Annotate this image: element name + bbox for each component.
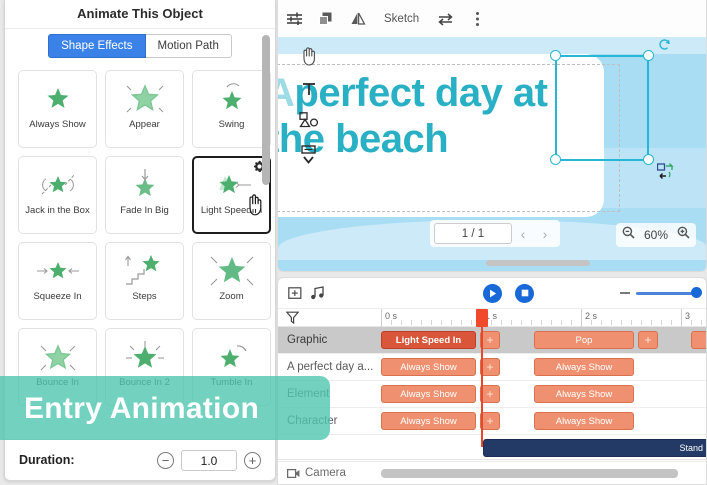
ruler-minor-tick bbox=[461, 320, 462, 325]
tab-motion-path[interactable]: Motion Path bbox=[146, 34, 232, 58]
timeline-clip[interactable]: Always Show bbox=[381, 358, 476, 376]
effect-label: Always Show bbox=[20, 119, 96, 130]
zoom-level: 60% bbox=[644, 228, 668, 242]
camera-label-text: Camera bbox=[305, 467, 346, 479]
effect-label: Bounce In 2 bbox=[107, 377, 183, 388]
dropdown-icon[interactable] bbox=[296, 145, 322, 165]
camera-icon bbox=[287, 468, 300, 479]
effects-scroll-area: Always ShowAppearSwingJack in the BoxFad… bbox=[5, 62, 275, 439]
track-lane[interactable]: Always Show+Always Show bbox=[381, 381, 706, 408]
timeline-panel: GraphicA perfect day a...ElementCharacte… bbox=[277, 277, 707, 485]
canvas-left-tools bbox=[296, 46, 322, 181]
duration-input[interactable]: 1.0 bbox=[181, 450, 237, 471]
effect-label: Fade In Big bbox=[107, 205, 183, 216]
effect-card-fade-in-big[interactable]: Fade In Big bbox=[105, 156, 184, 234]
page-count[interactable]: 1 / 1 bbox=[434, 223, 512, 244]
effect-label: Swing bbox=[194, 119, 270, 130]
tab-shape-effects[interactable]: Shape Effects bbox=[48, 34, 145, 58]
timeline-toolbar bbox=[278, 278, 706, 309]
star-zoom-icon bbox=[205, 252, 259, 290]
app-root: Animate This Object Shape Effects Motion… bbox=[0, 0, 707, 485]
effect-label: Zoom bbox=[194, 291, 270, 302]
canvas-area: Sketch bbox=[277, 0, 707, 272]
effect-card-tumble-in[interactable]: Tumble In bbox=[192, 328, 271, 406]
replace-image-icon[interactable] bbox=[657, 163, 675, 179]
selection-box[interactable] bbox=[555, 55, 649, 159]
timeline-ruler[interactable]: 0 s1 s2 s3 bbox=[381, 309, 706, 327]
ruler-minor-tick bbox=[591, 320, 592, 325]
panel-scrollbar[interactable] bbox=[262, 35, 270, 185]
star-fade-icon bbox=[118, 166, 172, 204]
ruler-minor-tick bbox=[521, 320, 522, 325]
ruler-minor-tick bbox=[571, 320, 572, 325]
star-steps-icon bbox=[118, 252, 172, 290]
ruler-minor-tick bbox=[651, 320, 652, 325]
camera-track-label[interactable]: Camera bbox=[278, 467, 381, 479]
editor-right: Sketch bbox=[277, 0, 707, 485]
rotate-icon[interactable] bbox=[658, 38, 672, 52]
ruler-minor-tick bbox=[551, 320, 552, 325]
next-page-button[interactable]: › bbox=[534, 226, 556, 242]
effect-card-zoom[interactable]: Zoom bbox=[192, 242, 271, 320]
animation-panel: Animate This Object Shape Effects Motion… bbox=[4, 0, 276, 481]
zoom-out-icon[interactable] bbox=[622, 226, 635, 244]
effect-label: Squeeze In bbox=[20, 291, 96, 302]
panel-tabs: Shape Effects Motion Path bbox=[5, 28, 275, 62]
timeline-clip[interactable]: Always Show bbox=[534, 358, 634, 376]
add-animation-button[interactable]: + bbox=[480, 331, 500, 349]
track-lane[interactable]: Always Show+Always Show bbox=[381, 354, 706, 381]
track-lane[interactable]: Always Show+Always Show bbox=[381, 408, 706, 435]
effect-label: Jack in the Box bbox=[20, 205, 96, 216]
ruler-tick bbox=[581, 309, 582, 327]
effect-card-bounce-in-2[interactable]: Bounce In 2 bbox=[105, 328, 184, 406]
ruler-minor-tick bbox=[661, 320, 662, 325]
selection-handle-br[interactable] bbox=[643, 154, 654, 165]
ruler-minor-tick bbox=[701, 320, 702, 325]
track-header-a-perfect-day-a-[interactable]: A perfect day a... bbox=[278, 354, 381, 381]
more-vertical-icon[interactable] bbox=[461, 6, 493, 32]
selection-handle-tl[interactable] bbox=[550, 50, 561, 61]
ruler-minor-tick bbox=[501, 320, 502, 325]
effect-card-appear[interactable]: Appear bbox=[105, 70, 184, 148]
selection-handle-bl[interactable] bbox=[550, 154, 561, 165]
shapes-icon[interactable] bbox=[296, 112, 322, 129]
add-animation-button[interactable]: + bbox=[638, 331, 658, 349]
duration-label: Duration: bbox=[19, 453, 157, 467]
duration-increase-button[interactable]: + bbox=[244, 452, 261, 469]
effect-card-jack-in-the-box[interactable]: Jack in the Box bbox=[18, 156, 97, 234]
star-tumble-icon bbox=[205, 338, 259, 376]
timeline-clip[interactable] bbox=[691, 331, 706, 349]
effect-card-squeeze-in[interactable]: Squeeze In bbox=[18, 242, 97, 320]
canvas-toolbar: Sketch bbox=[278, 0, 706, 37]
ruler-minor-tick bbox=[491, 320, 492, 325]
effect-label: Steps bbox=[107, 291, 183, 302]
hand-icon[interactable] bbox=[296, 46, 322, 66]
timeline-clip[interactable]: Always Show bbox=[534, 385, 634, 403]
ruler-minor-tick bbox=[561, 320, 562, 325]
slider-knob[interactable] bbox=[691, 287, 702, 298]
add-animation-button[interactable]: + bbox=[480, 358, 500, 376]
filter-icon[interactable] bbox=[278, 309, 381, 327]
timeline-zoom-slider[interactable] bbox=[620, 292, 698, 295]
track-name: A perfect day a... bbox=[287, 361, 373, 373]
ruler-minor-tick bbox=[621, 320, 622, 325]
track-name: Character bbox=[287, 415, 338, 427]
sliders-icon[interactable] bbox=[278, 6, 310, 32]
sketch-button[interactable]: Sketch bbox=[374, 13, 429, 25]
effect-label: Bounce In bbox=[20, 377, 96, 388]
ruler-tick bbox=[381, 309, 382, 327]
star-plain-icon bbox=[31, 80, 85, 118]
ruler-minor-tick bbox=[471, 320, 472, 325]
ruler-minor-tick bbox=[451, 320, 452, 325]
ruler-minor-tick bbox=[541, 320, 542, 325]
track-header-graphic[interactable]: Graphic bbox=[278, 327, 381, 354]
track-header-character[interactable]: Character bbox=[278, 408, 381, 435]
ruler-minor-tick bbox=[441, 320, 442, 325]
timeline-clip[interactable]: Stand bbox=[483, 439, 706, 457]
star-jack-icon bbox=[31, 166, 85, 204]
play-icon[interactable] bbox=[483, 284, 502, 303]
ruler-minor-tick bbox=[431, 320, 432, 325]
effect-card-light-speed-in[interactable]: Light Speed In bbox=[192, 156, 271, 234]
prev-page-button[interactable]: ‹ bbox=[512, 226, 534, 242]
timeline-clip[interactable]: Light Speed In bbox=[381, 331, 476, 349]
ruler-minor-tick bbox=[611, 320, 612, 325]
text-icon[interactable] bbox=[296, 82, 322, 96]
mouse-cursor-icon bbox=[245, 194, 263, 216]
ruler-minor-tick bbox=[691, 320, 692, 325]
ruler-minor-tick bbox=[601, 320, 602, 325]
ruler-minor-tick bbox=[671, 320, 672, 325]
add-animation-button[interactable]: + bbox=[480, 412, 500, 430]
add-animation-button[interactable]: + bbox=[480, 385, 500, 403]
zoom-out-icon[interactable] bbox=[620, 292, 630, 294]
add-slide-icon[interactable] bbox=[288, 286, 310, 300]
timeline-body: GraphicA perfect day a...ElementCharacte… bbox=[278, 309, 706, 485]
star-squeeze-icon bbox=[31, 252, 85, 290]
page-title: Animate This Object bbox=[5, 0, 275, 28]
effect-card-steps[interactable]: Steps bbox=[105, 242, 184, 320]
timeline-clip[interactable]: Always Show bbox=[534, 412, 634, 430]
transport-controls bbox=[483, 284, 534, 303]
timeline-clip[interactable]: Always Show bbox=[381, 385, 476, 403]
ruler-tick bbox=[681, 309, 682, 327]
ruler-minor-tick bbox=[511, 320, 512, 325]
layers-icon[interactable] bbox=[310, 6, 342, 32]
star-appear-icon bbox=[118, 80, 172, 118]
stop-icon[interactable] bbox=[515, 284, 534, 303]
track-lane[interactable]: Light Speed In+Pop+ bbox=[381, 327, 706, 354]
track-name: Element bbox=[287, 388, 329, 400]
flip-icon[interactable] bbox=[342, 6, 374, 32]
duration-decrease-button[interactable]: − bbox=[157, 452, 174, 469]
camera-track-bar[interactable] bbox=[381, 469, 678, 478]
duration-bar: Duration: − 1.0 + bbox=[5, 439, 275, 480]
camera-track: Camera bbox=[278, 459, 706, 485]
headline-faded: A bbox=[278, 71, 294, 115]
swap-icon[interactable] bbox=[429, 6, 461, 32]
selection-handle-tr[interactable] bbox=[643, 50, 654, 61]
ruler-minor-tick bbox=[641, 320, 642, 325]
artboard[interactable]: Aperfect day at the beach bbox=[278, 28, 706, 271]
star-bounce-icon bbox=[31, 338, 85, 376]
track-header-empty[interactable] bbox=[278, 435, 381, 462]
ruler-minor-tick bbox=[531, 320, 532, 325]
effect-card-bounce-in[interactable]: Bounce In bbox=[18, 328, 97, 406]
ruler-minor-tick bbox=[401, 320, 402, 325]
playhead[interactable] bbox=[481, 309, 483, 447]
star-bounce2-icon bbox=[118, 338, 172, 376]
effect-label: Tumble In bbox=[194, 377, 270, 388]
zoom-controls: 60% bbox=[616, 223, 696, 247]
track-name: Graphic bbox=[287, 334, 327, 346]
timeline-clip[interactable]: Pop bbox=[534, 331, 634, 349]
ruler-minor-tick bbox=[421, 320, 422, 325]
ruler-minor-tick bbox=[631, 320, 632, 325]
effect-label: Appear bbox=[107, 119, 183, 130]
track-header-element[interactable]: Element bbox=[278, 381, 381, 408]
music-icon[interactable] bbox=[310, 286, 332, 300]
effect-card-always-show[interactable]: Always Show bbox=[18, 70, 97, 148]
zoom-in-icon[interactable] bbox=[677, 226, 690, 244]
ruler-minor-tick bbox=[391, 320, 392, 325]
track-lane[interactable]: Stand bbox=[381, 435, 706, 462]
canvas-horizontal-scrollbar[interactable] bbox=[486, 260, 590, 266]
playhead-knob[interactable] bbox=[476, 309, 488, 327]
headline-line1: perfect day at bbox=[294, 71, 547, 115]
timeline-clip[interactable]: Always Show bbox=[381, 412, 476, 430]
slider-track[interactable] bbox=[636, 292, 698, 295]
ruler-label: 3 bbox=[685, 311, 690, 321]
effects-grid: Always ShowAppearSwingJack in the BoxFad… bbox=[5, 62, 275, 414]
star-swing-icon bbox=[205, 80, 259, 118]
effect-card-swing[interactable]: Swing bbox=[192, 70, 271, 148]
page-navigation: 1 / 1 ‹ › bbox=[430, 220, 560, 247]
ruler-minor-tick bbox=[411, 320, 412, 325]
